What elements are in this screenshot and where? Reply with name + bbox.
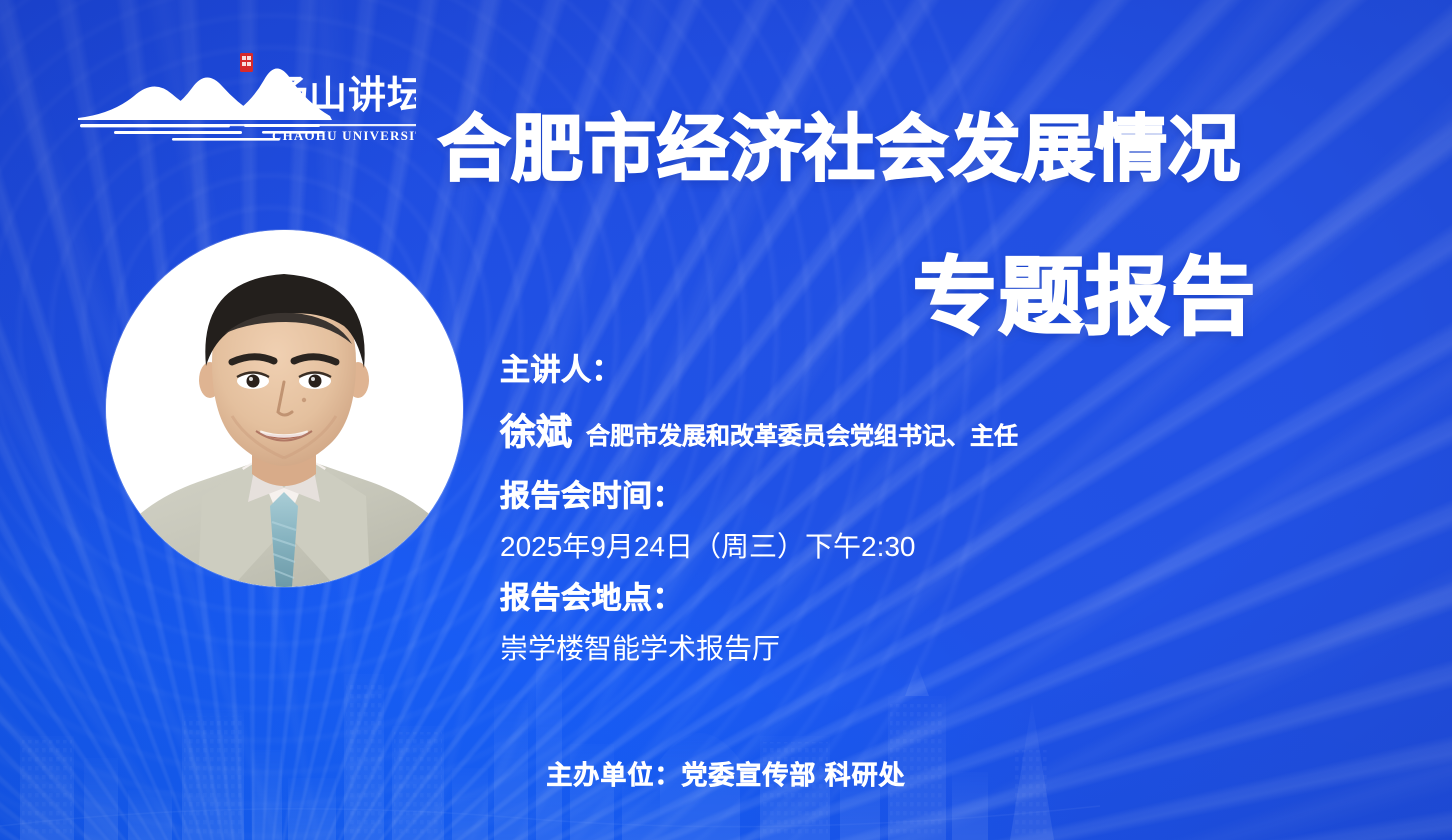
speaker-role: 合肥市发展和改革委员会党组书记、主任: [586, 416, 1018, 451]
chaohu-university-logo: 汤山讲坛 CHAOHU UNIVERSITY: [76, 52, 416, 144]
place-label: 报告会地点：: [500, 573, 1260, 617]
city-skyline-silhouette: [0, 640, 1100, 840]
time-value: 2025年9月24日（周三）下午2:30: [500, 525, 1260, 565]
event-details: 主讲人： 徐斌 合肥市发展和改革委员会党组书记、主任 报告会时间： 2025年9…: [500, 345, 1260, 667]
poster-title-line1: 合肥市经济社会发展情况: [438, 114, 1241, 186]
time-label: 报告会时间：: [500, 471, 1260, 515]
place-value: 崇学楼智能学术报告厅: [500, 627, 1260, 667]
organizer-footer: 主办单位：党委宣传部 科研处: [0, 755, 1452, 792]
event-poster: 汤山讲坛 CHAOHU UNIVERSITY: [0, 0, 1452, 840]
svg-text:汤山讲坛: 汤山讲坛: [270, 75, 416, 117]
red-seal-icon: [240, 53, 253, 72]
speaker-label: 主讲人：: [500, 345, 1260, 389]
speaker-row: 徐斌 合肥市发展和改革委员会党组书记、主任: [500, 403, 1260, 455]
poster-title-line2: 专题报告: [913, 255, 1257, 339]
speaker-portrait: [106, 230, 463, 587]
svg-text:CHAOHU UNIVERSITY: CHAOHU UNIVERSITY: [272, 128, 416, 143]
speaker-name: 徐斌: [500, 403, 572, 455]
